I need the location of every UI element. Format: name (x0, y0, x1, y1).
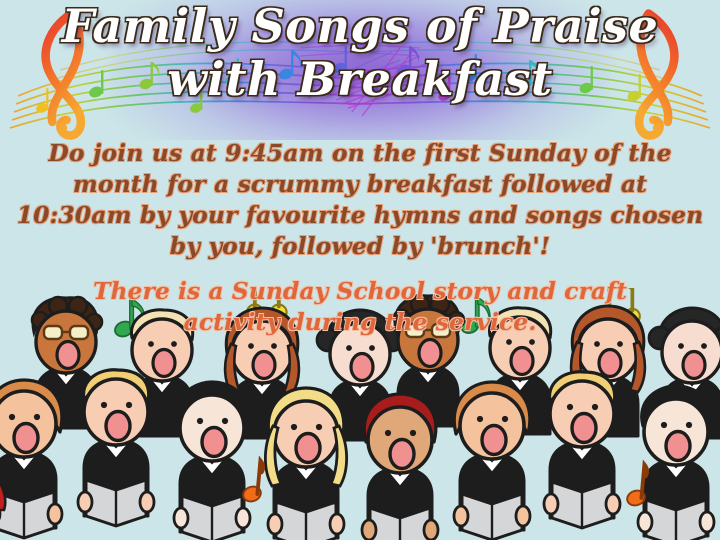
body-text-block: Do join us at 9:45am on the first Sunday… (0, 138, 720, 338)
treble-clef-right-icon (639, 14, 674, 136)
sunday-school-paragraph: There is a Sunday School story and craft… (0, 276, 720, 338)
header-decoration-band (0, 0, 720, 140)
poster-canvas: Family Songs of Praise with Breakfast Do… (0, 0, 720, 540)
rainbow-music-staff (0, 0, 720, 140)
event-details-paragraph: Do join us at 9:45am on the first Sunday… (0, 138, 720, 262)
treble-clef-left-icon (46, 14, 81, 136)
